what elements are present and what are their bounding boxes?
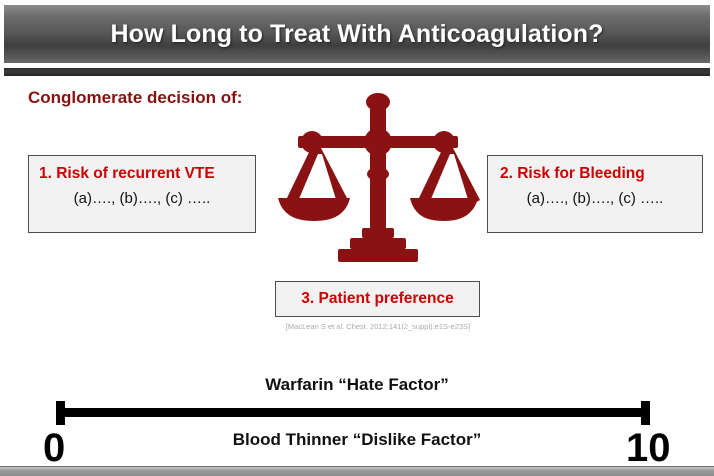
rating-scale-max-label: 10 <box>626 428 671 468</box>
rating-scale-top-label: Warfarin “Hate Factor” <box>0 375 714 395</box>
factor-box-patient-preference: 3. Patient preference <box>275 281 480 317</box>
rating-scale-min-label: 0 <box>43 428 65 468</box>
factor-title-3: 3. Patient preference <box>301 290 453 308</box>
page-title: How Long to Treat With Anticoagulation? <box>111 20 604 49</box>
rating-scale-cap-right <box>641 401 650 425</box>
factor-title-2: 2. Risk for Bleeding <box>488 165 702 183</box>
footer-bar <box>0 466 714 476</box>
balance-scale-icon <box>276 88 480 264</box>
factor-title-1: 1. Risk of recurrent VTE <box>29 165 255 183</box>
conglomerate-heading: Conglomerate decision of: <box>28 88 242 108</box>
factor-box-recurrent-vte: 1. Risk of recurrent VTE (a)…., (b)…., (… <box>28 155 256 233</box>
title-separator-bar <box>4 68 710 76</box>
factor-detail-1: (a)…., (b)…., (c) ….. <box>29 190 255 207</box>
rating-scale-cap-left <box>56 401 65 425</box>
rating-scale-bottom-label: Blood Thinner “Dislike Factor” <box>0 430 714 450</box>
factor-detail-2: (a)…., (b)…., (c) ….. <box>488 190 702 207</box>
slide-canvas: How Long to Treat With Anticoagulation? … <box>0 0 714 476</box>
rating-scale-bar <box>56 408 650 417</box>
slide-title-bar: How Long to Treat With Anticoagulation? <box>4 5 710 63</box>
factor-box-bleeding: 2. Risk for Bleeding (a)…., (b)…., (c) …… <box>487 155 703 233</box>
citation-text: [MacLean S et al. Chest. 2012;141(2_supp… <box>272 322 484 331</box>
